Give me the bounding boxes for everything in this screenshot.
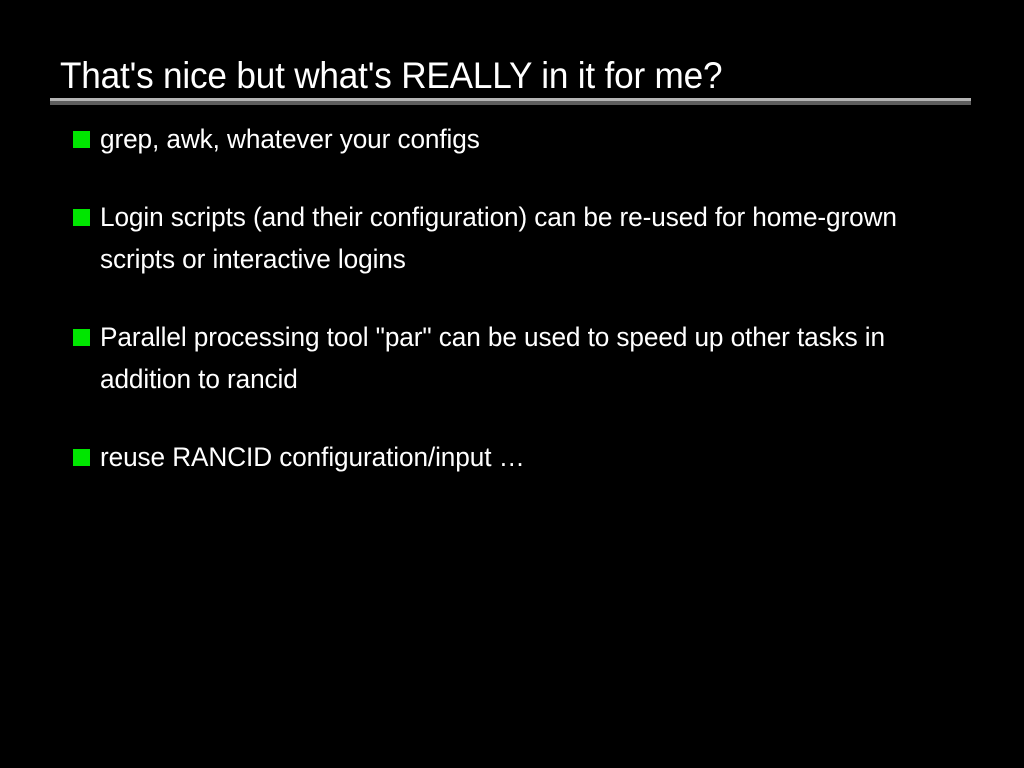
list-item: Parallel processing tool "par" can be us… <box>0 316 1024 400</box>
list-item: Login scripts (and their configuration) … <box>0 196 1024 280</box>
list-item: grep, awk, whatever your configs <box>0 118 1024 160</box>
list-item-label: Parallel processing tool "par" can be us… <box>100 316 920 400</box>
title-divider-shadow <box>50 101 971 105</box>
page-title: That's nice but what's REALLY in it for … <box>60 54 934 98</box>
list-item: reuse RANCID configuration/input … <box>0 436 1024 478</box>
square-bullet-icon <box>73 329 90 346</box>
square-bullet-icon <box>73 209 90 226</box>
square-bullet-icon <box>73 131 90 148</box>
list-item-label: Login scripts (and their configuration) … <box>100 196 920 280</box>
bullet-list: grep, awk, whatever your configs Login s… <box>0 118 1024 514</box>
list-item-label: reuse RANCID configuration/input … <box>100 436 920 478</box>
square-bullet-icon <box>73 449 90 466</box>
list-item-label: grep, awk, whatever your configs <box>100 118 920 160</box>
presentation-slide: That's nice but what's REALLY in it for … <box>0 0 1024 768</box>
